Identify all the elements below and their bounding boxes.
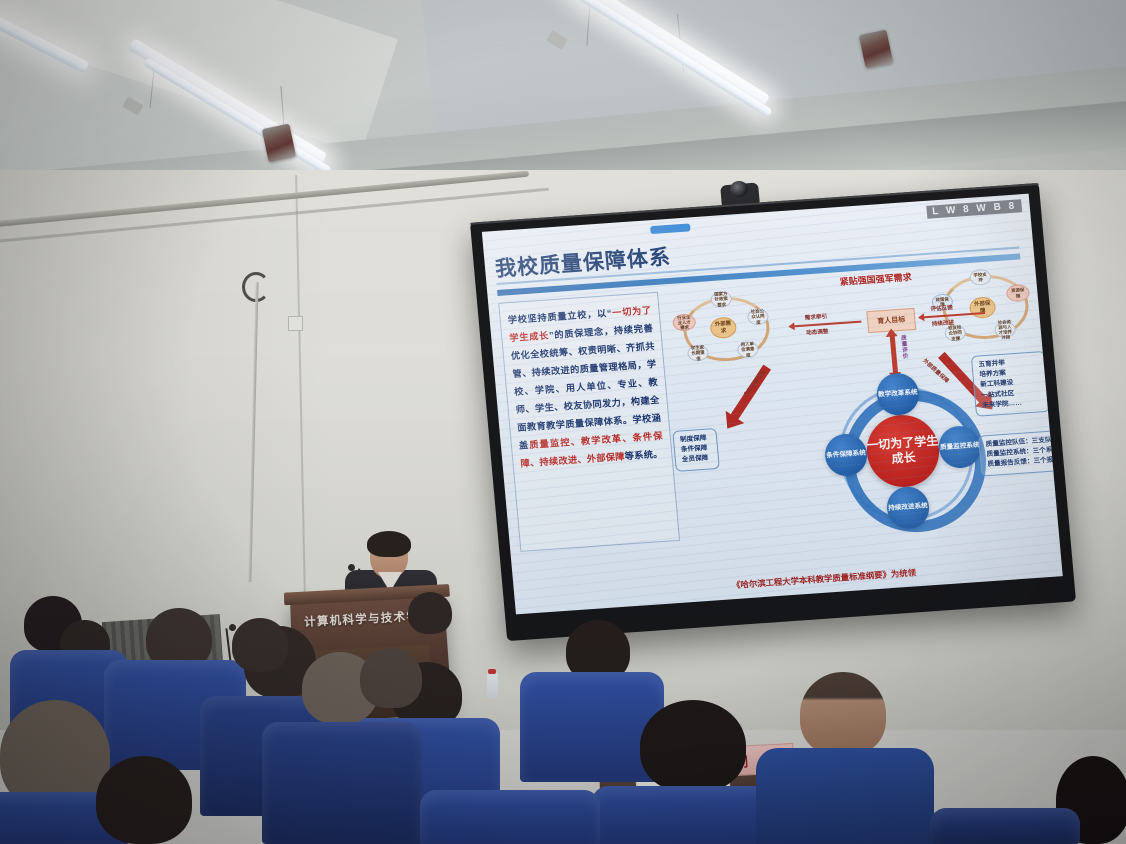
audience-shoulders [756, 748, 934, 844]
arrow-label-right-bottom: 持续改进 [931, 318, 954, 328]
quality-wheel: 一切为了学生成长 教学改革系统 质量监控系统 持续改进系统 条件保障系统 [823, 372, 984, 530]
display-watermark: L W 8 W B 8 [927, 199, 1022, 219]
presentation-slide: L W 8 W B 8 我校质量保障体系 学校坚持质量立校，以“一切为了学生成长… [482, 194, 1063, 615]
left-cycle-node: 国家方针政策要求 [710, 291, 732, 308]
left-cycle-node: 社会公众认同度 [747, 308, 769, 325]
audience-head [232, 618, 288, 672]
lecture-hall-photo: L W 8 W B 8 我校质量保障体系 学校坚持质量立校，以“一切为了学生成长… [0, 0, 1126, 844]
textbox-paragraph: 学校坚持质量立校，以“一切为了学生成长”的质保理念，持续完善优化全校统筹、权责明… [507, 302, 665, 473]
audience-head [408, 592, 452, 634]
right-initiatives-box: 五育并举 培养方案 新工科建设 一站式社区 未来学院…… [971, 351, 1050, 417]
left-support-line: 全员保障 [682, 454, 713, 466]
audience-chair [262, 722, 422, 844]
slide-textbox: 学校坚持质量立校，以“一切为了学生成长”的质保理念，持续完善优化全校统筹、权责明… [498, 292, 680, 552]
left-support-box: 制度保障 条件保障 全员保障 [672, 428, 720, 472]
right-monitoring-box: 质量监控队伍：三支队伍 质量监控系统：三个系统 质量报告反馈：三个报告 [978, 429, 1063, 476]
arrow-vertical [890, 335, 898, 373]
bottle-cap [488, 669, 496, 674]
left-cycle-node: 用人单位满意度 [737, 341, 759, 358]
arrow-label-left-top: 需求牵引 [804, 312, 827, 322]
textbox-highlight-1: 一切为了学生成长 [509, 305, 652, 343]
audience-chair [420, 790, 600, 844]
slide-top-tab [650, 223, 691, 234]
right-cycle-node: 校友校企协同支撑 [944, 324, 966, 341]
audience-head [360, 648, 422, 708]
audience-head [640, 700, 746, 792]
audience-chair [930, 808, 1080, 844]
diagram-banner: 紧贴强国强军需求 [839, 270, 912, 288]
right-cycle-node: 社会资源与人才培养对接 [994, 321, 1016, 338]
audience-chair [592, 786, 780, 844]
arrow-label-vertical: 质量评价 [899, 335, 909, 360]
audience-head [96, 756, 192, 844]
arrow-label-right-top: 评估反馈 [930, 303, 953, 313]
left-cycle: 外部需求 国家方针政策要求 行业企业人才需求 社会公众认同度 学生家长期望值 用… [672, 290, 774, 362]
arrow-label-left-bottom: 动态调整 [806, 327, 829, 337]
speaker-hair [367, 531, 411, 557]
water-bottle [487, 672, 498, 698]
wall-display[interactable]: L W 8 W B 8 我校质量保障体系 学校坚持质量立校，以“一切为了学生成长… [470, 183, 1076, 641]
microphone-head-icon [229, 624, 236, 631]
textbox-highlight-2: 质量监控、教学改革、条件保障、持续改进、外部保障 [520, 430, 663, 468]
slide-diagram: 紧贴强国强军需求 外部需求 国家方针政策要求 行业企业人才需求 社会公众认同度 … [663, 256, 1058, 598]
left-cycle-node: 行业企业人才需求 [672, 313, 696, 332]
microphone-head-icon [348, 564, 355, 571]
audience-head-bald [800, 672, 886, 756]
left-cycle-node: 学生家长期望值 [687, 344, 709, 361]
wall-socket [288, 316, 303, 331]
display-screen: L W 8 W B 8 我校质量保障体系 学校坚持质量立校，以“一切为了学生成长… [482, 194, 1063, 615]
